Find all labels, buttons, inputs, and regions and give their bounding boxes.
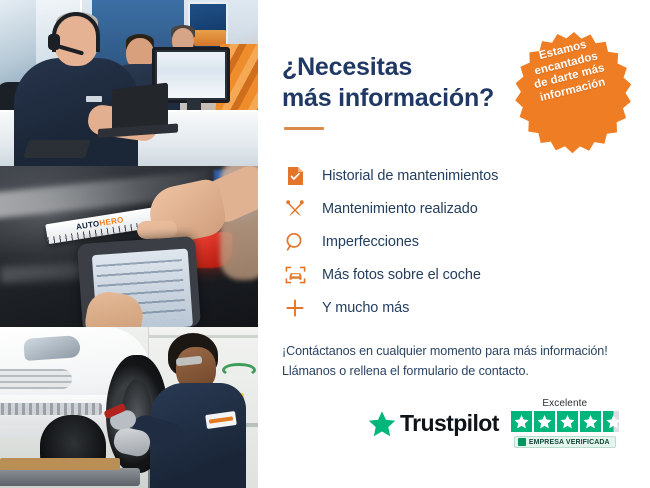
list-item: Imperfecciones: [282, 226, 626, 258]
contact-line-2: Llámanos o rellena el formulario de cont…: [282, 361, 626, 381]
list-item: Y mucho más: [282, 292, 626, 324]
content-panel: ¿Necesitas más información? Estamos enca…: [258, 0, 650, 488]
list-item: Mantenimiento realizado: [282, 193, 626, 225]
trustpilot-logo[interactable]: Trustpilot: [368, 410, 499, 437]
rating-star: [534, 411, 555, 432]
document-check-icon: [282, 164, 308, 188]
contact-paragraph: ¡Contáctanos en cualquier momento para m…: [282, 341, 626, 382]
laptop-computer: [112, 83, 168, 132]
desk-tablet: [23, 140, 91, 158]
list-item: Más fotos sobre el coche: [282, 259, 626, 291]
wall-poster: [188, 2, 228, 50]
list-item: Historial de mantenimientos: [282, 160, 626, 192]
magnifier-icon: [282, 230, 308, 254]
photo-collage: AUTOHERO: [0, 0, 258, 488]
trustpilot-wordmark: Trustpilot: [400, 410, 499, 437]
badge-message: Estamos encantados de darte más informac…: [526, 36, 609, 106]
mechanic-wheel-check-photo: [0, 327, 258, 488]
feature-label: Mantenimiento realizado: [322, 201, 478, 217]
feature-label: Más fotos sobre el coche: [322, 267, 481, 283]
call-center-agents-photo: [0, 0, 258, 166]
plus-icon: [282, 296, 308, 320]
rating-star: [511, 411, 532, 432]
headset-icon: [495, 42, 521, 67]
rating-label: Excelente: [542, 398, 587, 409]
verified-company-badge: EMPRESA VERIFICADA: [514, 436, 616, 448]
feature-label: Historial de mantenimientos: [322, 168, 498, 184]
contact-line-1: ¡Contáctanos en cualquier momento para m…: [282, 341, 626, 361]
headline-line-2: más información?: [282, 83, 522, 114]
car-lower-vent: [0, 403, 102, 415]
vehicle-lift-ramp: [0, 468, 140, 486]
feature-label: Y mucho más: [322, 300, 409, 316]
employee-name-badge: [86, 96, 102, 102]
green-air-hose: [222, 363, 256, 377]
star-rating: [511, 411, 619, 432]
trustpilot-block[interactable]: Trustpilot Excelente: [368, 398, 619, 448]
trustpilot-star-icon: [368, 410, 396, 437]
feature-list: Historial de mantenimientos Mantenimient…: [282, 160, 626, 324]
car-grille: [0, 369, 72, 389]
feature-label: Imperfecciones: [322, 234, 419, 250]
car-headlight: [23, 335, 80, 361]
wrench-screwdriver-icon: [282, 197, 308, 221]
verified-check-icon: [518, 438, 526, 446]
title-underline-rule: [284, 127, 324, 130]
headline-line-1: ¿Necesitas: [282, 53, 412, 81]
car-inspection-ruler-photo: AUTOHERO: [0, 166, 258, 327]
verified-label: EMPRESA VERIFICADA: [529, 439, 610, 446]
support-badge: Estamos encantados de darte más informac…: [509, 30, 639, 160]
rating-star: [557, 411, 578, 432]
information-banner: AUTOHERO: [0, 0, 650, 488]
trustpilot-rating-group: Excelente: [511, 398, 619, 448]
page-title: ¿Necesitas más información?: [282, 52, 522, 113]
rating-star-partial: [603, 411, 619, 432]
car-frame-icon: [282, 263, 308, 287]
rating-star: [580, 411, 601, 432]
